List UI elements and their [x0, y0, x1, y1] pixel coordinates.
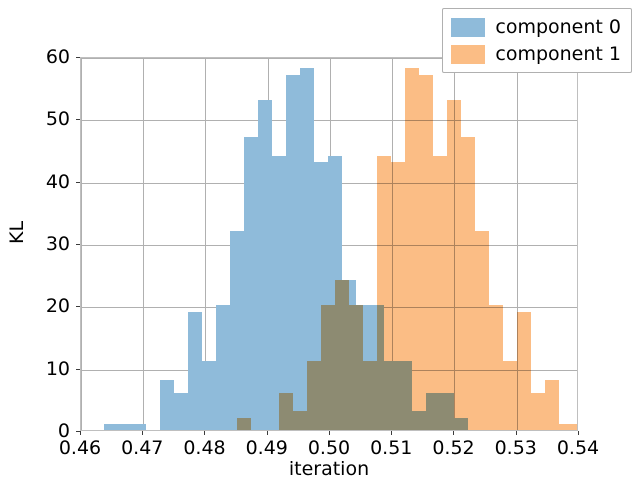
histogram-bar	[335, 280, 349, 430]
x-tick-label: 0.54	[557, 437, 599, 459]
x-tick-mark	[142, 431, 143, 435]
legend[interactable]: component 0 component 1	[442, 8, 632, 73]
y-tick-label: 60	[70, 46, 94, 68]
legend-item-component-0[interactable]: component 0	[451, 16, 621, 38]
y-tick-label: 0	[70, 420, 82, 442]
x-tick-mark	[204, 431, 205, 435]
x-tick-mark	[516, 431, 517, 435]
histogram-bar	[419, 75, 433, 430]
histogram-bar	[517, 312, 531, 430]
histogram-bar	[293, 411, 307, 430]
y-tick-label: 50	[70, 108, 94, 130]
y-tick-label: 30	[70, 233, 94, 255]
y-tick-label: 40	[70, 171, 94, 193]
histogram-bar	[475, 231, 489, 430]
x-tick-label: 0.47	[121, 437, 163, 459]
x-tick-mark	[578, 431, 579, 435]
histogram-bar	[531, 393, 545, 430]
series-bars-component-1	[81, 58, 577, 430]
x-tick-label: 0.51	[370, 437, 412, 459]
x-tick-label: 0.49	[246, 437, 288, 459]
histogram-bar	[461, 137, 475, 430]
y-axis-label: KL	[6, 221, 28, 244]
x-tick-mark	[391, 431, 392, 435]
histogram-bar	[279, 393, 293, 430]
histogram-bar	[405, 68, 419, 430]
histogram-figure: 0.460.470.480.490.500.510.520.530.54 010…	[0, 0, 640, 480]
plot-area	[80, 57, 578, 431]
histogram-bar	[363, 361, 377, 430]
histogram-bar	[321, 305, 335, 430]
histogram-bar	[391, 162, 405, 430]
histogram-bar	[433, 156, 447, 430]
histogram-bar	[237, 418, 251, 430]
histogram-bar	[545, 380, 559, 430]
x-axis-label: iteration	[80, 458, 578, 480]
histogram-bar	[489, 305, 503, 430]
histogram-bar	[503, 361, 517, 430]
x-tick-mark	[267, 431, 268, 435]
histogram-bar	[349, 305, 363, 430]
legend-item-component-1[interactable]: component 1	[451, 43, 621, 65]
legend-swatch-component-1	[451, 45, 485, 64]
x-tick-label: 0.48	[183, 437, 225, 459]
histogram-bar	[377, 156, 391, 430]
legend-label-component-0: component 0	[495, 16, 621, 38]
histogram-bar	[447, 100, 461, 430]
x-tick-mark	[453, 431, 454, 435]
legend-swatch-component-0	[451, 18, 485, 37]
x-tick-label: 0.52	[432, 437, 474, 459]
histogram-bar	[559, 424, 573, 430]
x-tick-label: 0.53	[495, 437, 537, 459]
x-tick-mark	[329, 431, 330, 435]
x-tick-label: 0.50	[308, 437, 350, 459]
legend-label-component-1: component 1	[495, 43, 621, 65]
y-tick-label: 20	[70, 295, 94, 317]
histogram-bar	[573, 424, 578, 430]
y-tick-label: 10	[70, 358, 94, 380]
histogram-bar	[307, 361, 321, 430]
